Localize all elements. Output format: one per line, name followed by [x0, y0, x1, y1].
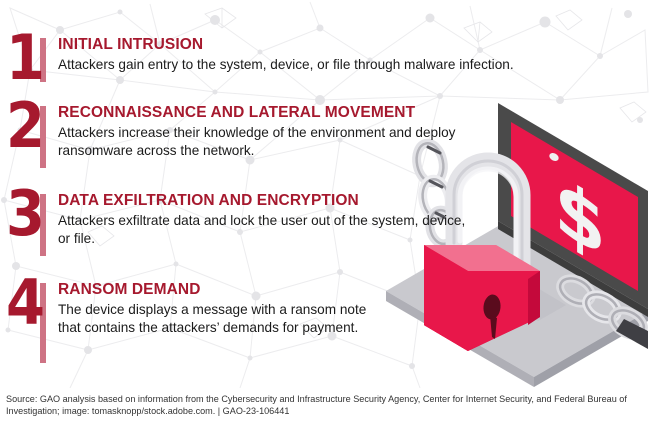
footer: Source: GAO analysis based on informatio…	[0, 388, 650, 426]
step-number: 2	[6, 100, 40, 154]
step-1: 1 INITIAL INTRUSION Attackers gain entry…	[6, 36, 596, 82]
step-description: Attackers exfiltrate data and lock the u…	[58, 212, 476, 247]
step-number: 1	[6, 32, 40, 86]
step-body: INITIAL INTRUSION Attackers gain entry t…	[58, 36, 596, 74]
step-title: INITIAL INTRUSION	[58, 36, 596, 54]
step-body: RANSOM DEMAND The device displays a mess…	[58, 281, 386, 336]
step-description: Attackers gain entry to the system, devi…	[58, 56, 596, 74]
step-body: DATA EXFILTRATION AND ENCRYPTION Attacke…	[58, 192, 476, 247]
step-4: 4 RANSOM DEMAND The device displays a me…	[6, 281, 386, 363]
step-3: 3 DATA EXFILTRATION AND ENCRYPTION Attac…	[6, 192, 476, 256]
source-note: Source: GAO analysis based on informatio…	[6, 394, 644, 417]
steps-list: 1 INITIAL INTRUSION Attackers gain entry…	[0, 0, 650, 386]
step-number: 3	[6, 188, 40, 242]
step-body: RECONNAISSANCE AND LATERAL MOVEMENT Atta…	[58, 104, 486, 159]
step-description: Attackers increase their knowledge of th…	[58, 124, 486, 159]
step-number: 4	[6, 277, 40, 331]
step-title: RECONNAISSANCE AND LATERAL MOVEMENT	[58, 104, 486, 122]
step-title: DATA EXFILTRATION AND ENCRYPTION	[58, 192, 476, 210]
step-2: 2 RECONNAISSANCE AND LATERAL MOVEMENT At…	[6, 104, 486, 168]
step-title: RANSOM DEMAND	[58, 281, 386, 299]
ransomware-stages-infographic: $	[0, 0, 650, 426]
step-description: The device displays a message with a ran…	[58, 301, 386, 336]
